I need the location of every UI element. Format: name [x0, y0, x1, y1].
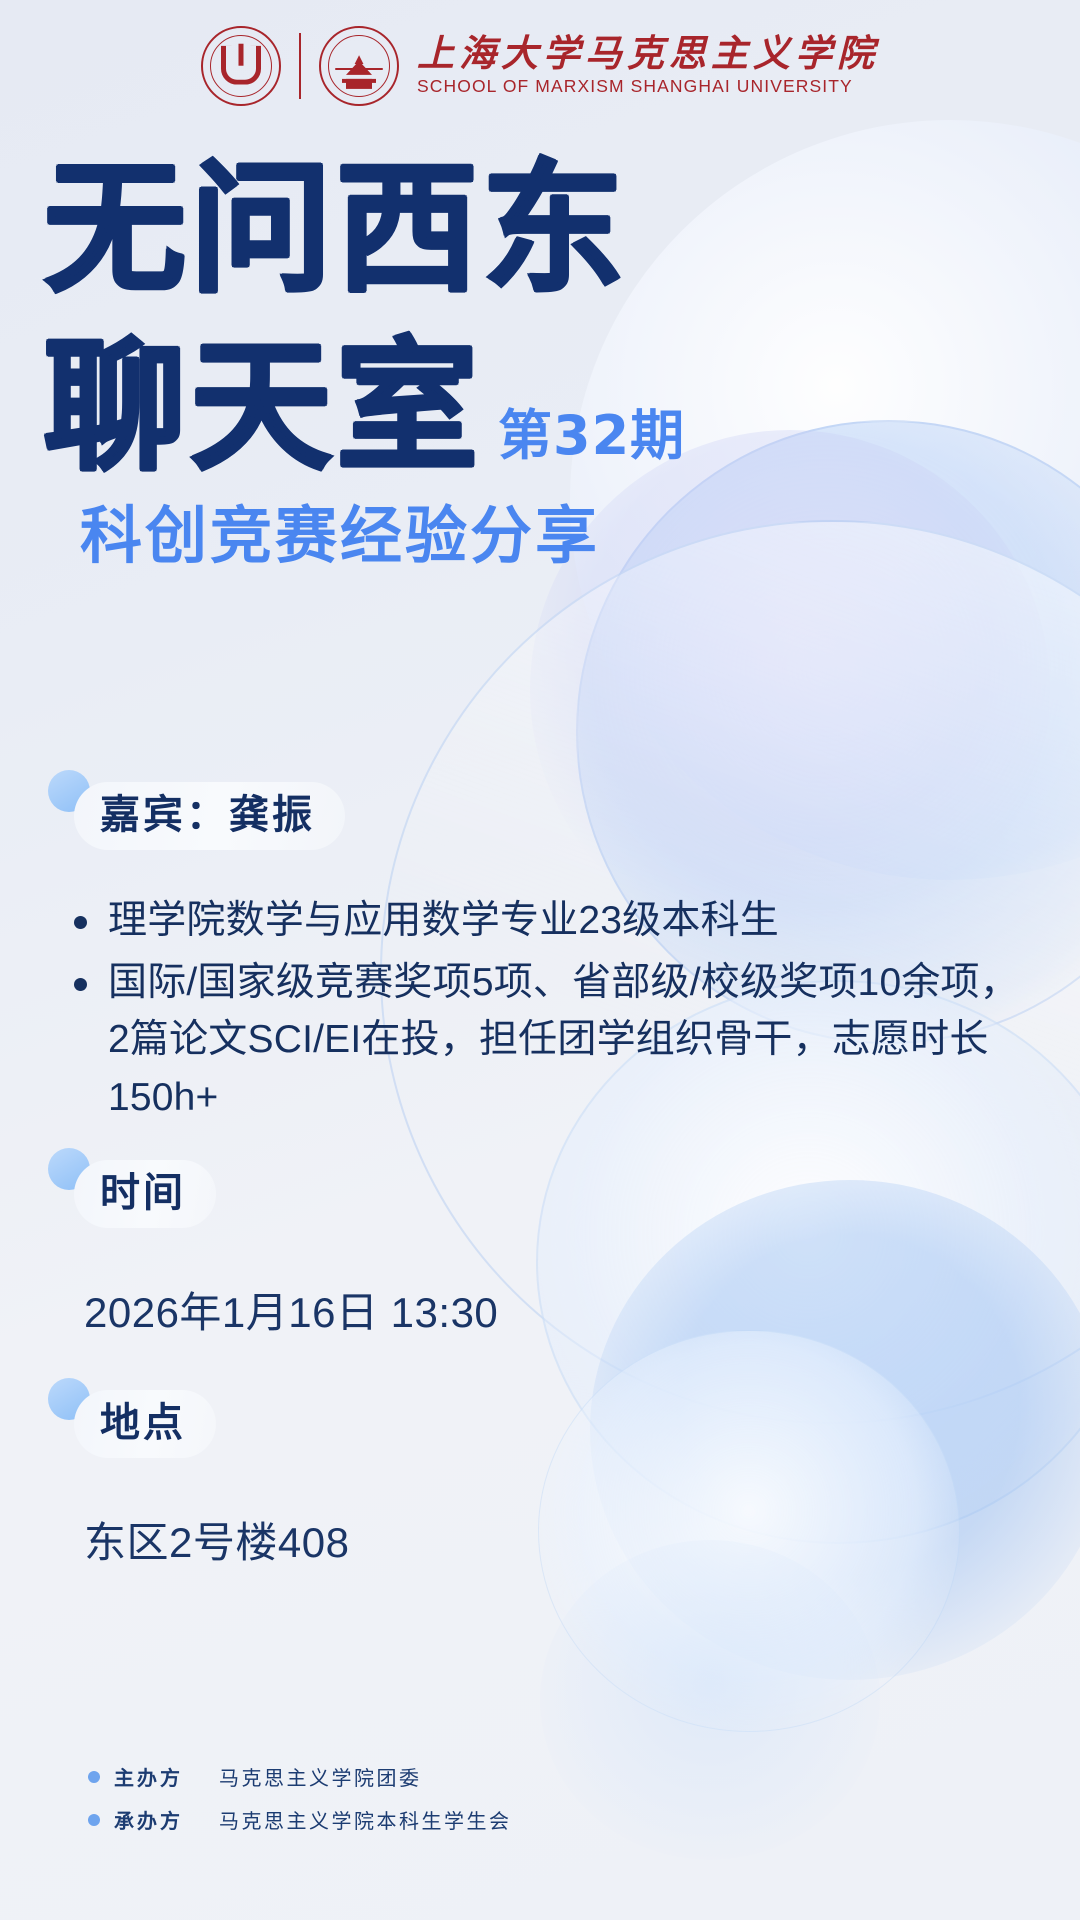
organizer-row-coorganizer: 承办方 马克思主义学院本科生学生会 [88, 1805, 512, 1834]
time-section-header: 时间 [48, 1148, 216, 1228]
issue-number: 第32期 [498, 409, 685, 477]
seal-horizon-line [335, 68, 383, 70]
org-name-cn: 上海大学马克思主义学院 [417, 36, 879, 73]
school-of-marxism-seal-icon: ▲ [319, 26, 399, 106]
org-name-en: SCHOOL OF MARXISM SHANGHAI UNIVERSITY [417, 78, 879, 96]
event-poster: ▲ 上海大学马克思主义学院 SCHOOL OF MARXISM SHANGHAI… [0, 0, 1080, 1920]
list-item: 理学院数学与应用数学专业23级本科生 [66, 892, 1024, 950]
organizer-value: 马克思主义学院本科生学生会 [219, 1805, 512, 1834]
shanghai-university-seal-icon [201, 26, 281, 106]
torch-flame-icon: ▲ [352, 52, 367, 67]
header-logo-lockup: ▲ 上海大学马克思主义学院 SCHOOL OF MARXISM SHANGHAI… [0, 26, 1080, 106]
logo-text-block: 上海大学马克思主义学院 SCHOOL OF MARXISM SHANGHAI U… [417, 36, 879, 96]
organizer-bullet-icon [88, 1771, 100, 1783]
title-line-2: 聊天室 [44, 340, 482, 476]
place-value: 东区2号楼408 [84, 1518, 349, 1568]
logo-divider [299, 33, 301, 99]
guest-section-header: 嘉宾：龚振 [48, 770, 345, 850]
list-item: 国际/国家级竞赛奖项5项、省部级/校级奖项10余项，2篇论文SCI/EI在投，担… [66, 954, 1024, 1127]
guest-label-wrap: 嘉宾：龚振 [48, 770, 345, 850]
time-label: 时间 [74, 1160, 216, 1228]
organizer-bullet-icon [88, 1814, 100, 1826]
background-blob-6 [538, 1330, 960, 1732]
organizer-key: 主办方 [114, 1762, 183, 1791]
poster-subtitle: 科创竞赛经验分享 [80, 503, 1040, 568]
organizer-key: 承办方 [114, 1805, 183, 1834]
organizer-row-host: 主办方 马克思主义学院团委 [88, 1762, 512, 1791]
title-line-2-row: 聊天室 第32期 [44, 340, 1040, 476]
place-label: 地点 [74, 1390, 216, 1458]
guest-label: 嘉宾：龚振 [74, 782, 345, 850]
background-blob-7 [540, 1540, 880, 1860]
seal-u-glyph [221, 46, 261, 85]
seal-building-glyph [342, 57, 376, 83]
time-label-wrap: 时间 [48, 1148, 216, 1228]
organizers-block: 主办方 马克思主义学院团委 承办方 马克思主义学院本科生学生会 [88, 1762, 512, 1848]
place-section-header: 地点 [48, 1378, 216, 1458]
time-value: 2026年1月16日 13:30 [84, 1288, 498, 1338]
background-blob-5 [590, 1180, 1080, 1680]
poster-title-block: 无问西东 聊天室 第32期 科创竞赛经验分享 [44, 162, 1040, 568]
guest-credentials-list: 理学院数学与应用数学专业23级本科生 国际/国家级竞赛奖项5项、省部级/校级奖项… [66, 892, 1024, 1131]
place-label-wrap: 地点 [48, 1378, 216, 1458]
organizer-value: 马克思主义学院团委 [219, 1762, 422, 1791]
title-line-1: 无问西东 [44, 162, 1040, 298]
